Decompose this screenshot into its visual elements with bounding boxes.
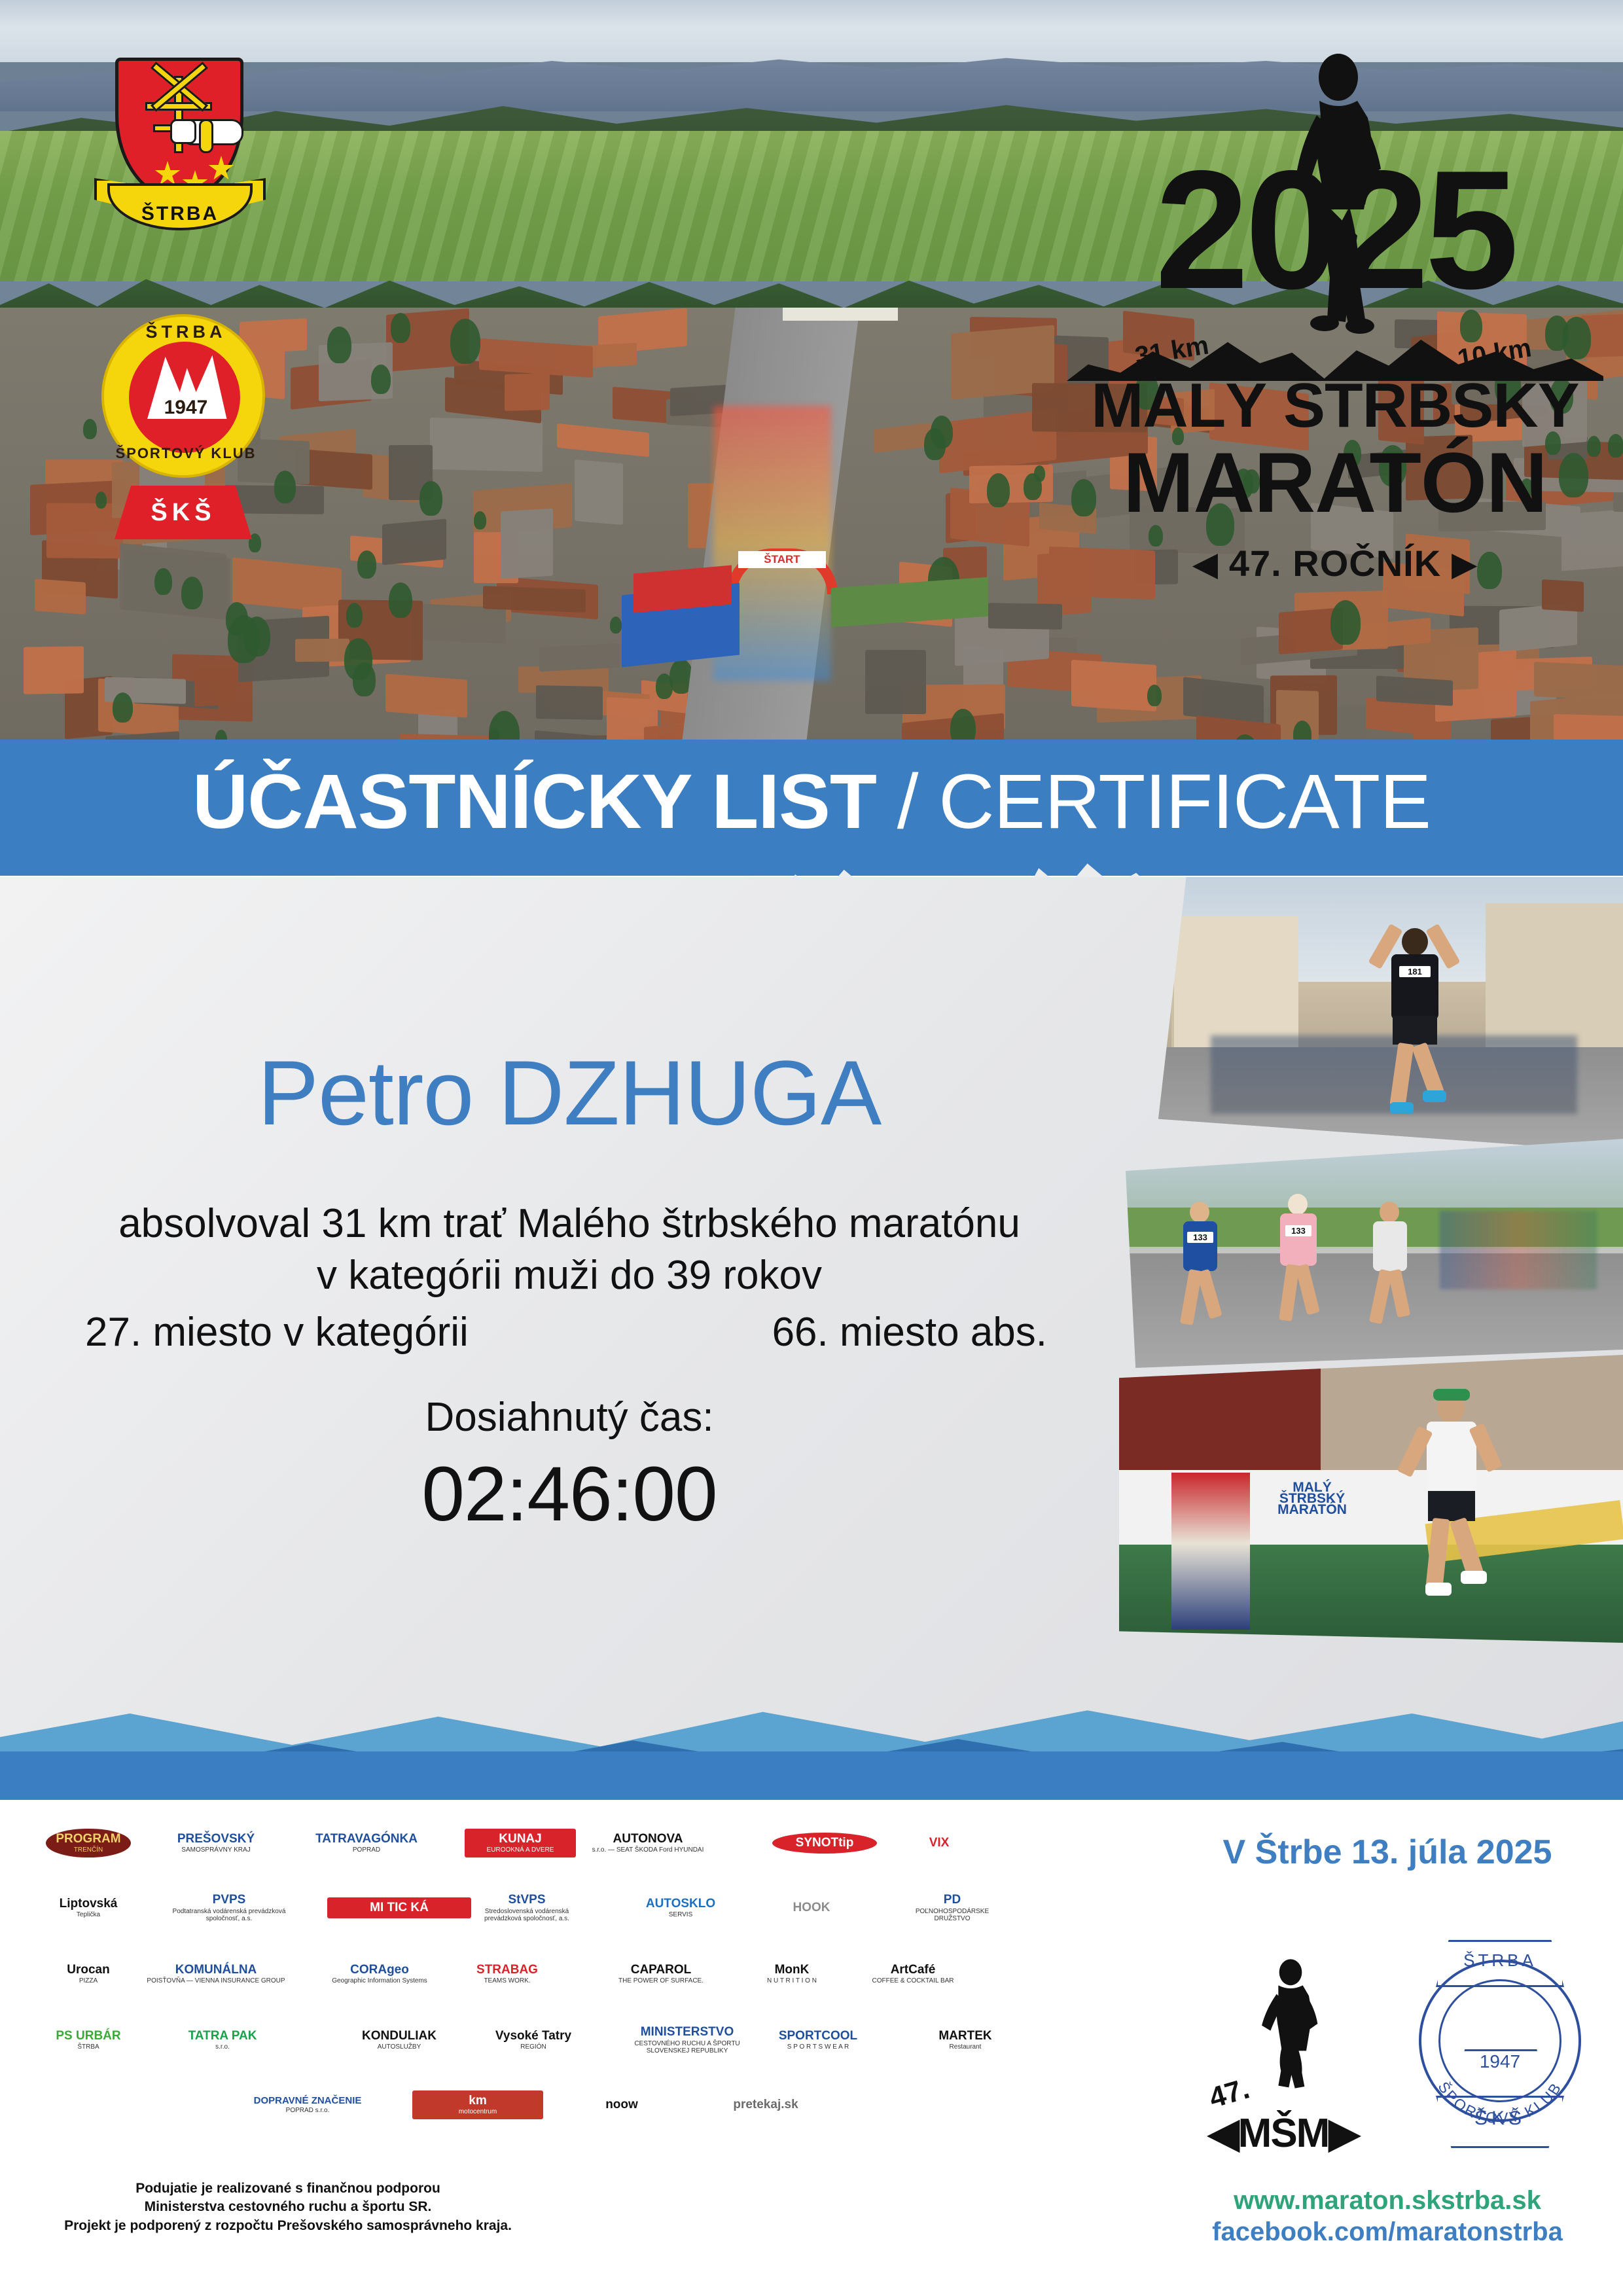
photo1-runner-leg-left [1389,1043,1414,1107]
crest-cuff [199,119,213,153]
sponsor-subtitle: COFFEE & COCKTAIL BAR [872,1977,954,1984]
sponsor-name: noow [605,2098,638,2111]
photo2-runner3-leg-right [1388,1269,1411,1318]
sponsor-logo: CAPAROLTHE POWER OF SURFACE. [596,1943,726,2005]
photo3-banner-text: MALÝŠTRBSKÝMARATÓN [1237,1478,1387,1516]
sponsor-name: PREŠOVSKÝ [177,1833,255,1846]
sponsor-name: KUNAJ [499,1833,541,1846]
roof-tile [24,646,84,694]
photo3-red-building [1119,1355,1321,1487]
photo1-runner-shorts [1393,1016,1437,1045]
sponsor-name: PROGRAM [56,1833,120,1846]
photo2-runner-pack [1440,1211,1597,1289]
sponsor-name: DOPRAVNÉ ZNAČENIE [254,2096,362,2106]
sponsor-logo: ArtCaféCOFFEE & COCKTAIL BAR [864,1943,962,2005]
sponsor-name: VIX [929,1837,950,1850]
sponsor-subtitle: S P O R T S W E A R [787,2043,849,2051]
sponsor-subtitle: POPRAD [353,1846,380,1854]
strba-coat-of-arms: ŠTRBA [98,46,262,236]
sponsor-logo: PDPOĽNOHOSPODÁRSKE DRUŽSTVO [903,1876,1001,1940]
sponsor-subtitle: POĽNOHOSPODÁRSKE DRUŽSTVO [903,1908,1001,1922]
sponsor-name: PVPS [213,1893,246,1907]
sponsor-logo: MI TIC KÁ [327,1876,471,1940]
sponsor-name: KONDULIAK [362,2030,437,2043]
sponsor-subtitle: AUTOSLUŽBY [378,2043,421,2051]
sponsor-logo: MINISTERSTVOCESTOVNÉHO RUCHU A ŠPORTU SL… [622,2008,753,2072]
photo2-runner-2: 133 [1263,1194,1335,1351]
disclaimer-line-3: Projekt je podporený z rozpočtu Prešovsk… [39,2217,537,2235]
sponsor-name: MonK [775,1964,810,1977]
sponsor-logo: pretekaj.sk [700,2075,831,2135]
photo2-runner2-leg-right [1295,1264,1320,1316]
club-logo-abbrev: ŠKŠ [115,499,252,527]
sponsor-logo: MonKN U T R I T I O N [740,1943,844,2005]
roof-tile [539,643,620,672]
sponsor-logo: AUTONOVAs.r.o. — SEAT ŠKODA Ford HYUNDAI [582,1813,713,1873]
sponsor-name: SPORTCOOL [779,2030,857,2043]
photo2-runner2-torso [1280,1213,1317,1266]
roof-tile [430,418,543,472]
sponsor-subtitle: CESTOVNÉHO RUCHU A ŠPORTU SLOVENSKEJ REP… [622,2040,753,2054]
msm-runner-icon [1233,1937,1351,2094]
roof-tile [385,673,467,717]
tree [353,662,376,696]
photo-runner-group: 133 133 [1126,1139,1623,1368]
banner-title: ÚČASTNÍCKY LIST / CERTIFICATE [0,763,1623,840]
roof-tile [874,423,931,453]
certificate-content: Petro DZHUGA absolvoval 31 km trať Maléh… [0,877,1139,1715]
sponsor-name: km [469,2094,486,2108]
finish-time-value: 02:46:00 [0,1450,1139,1539]
banner-separator: / [876,759,938,845]
tree [924,428,946,460]
sponsor-subtitle: POPRAD s.r.o. [286,2107,330,2114]
club-logo-bottom-text: ŠPORTOVÝ KLUB [104,445,268,462]
sponsor-name: MI TIC KÁ [370,1901,429,1914]
sponsor-name: HOOK [793,1901,830,1914]
race-title-line2: MARATÓN [1067,440,1603,525]
sponsor-logo: PVPSPodtatranská vodárenská prevádzková … [157,1876,301,1940]
sponsor-name: ArtCafé [891,1964,936,1977]
roof-tile [505,373,550,411]
sponsor-subtitle: ŠTRBA [77,2043,99,2051]
crest-name-label: ŠTRBA [96,203,264,225]
tree [243,617,270,656]
tree [419,481,442,516]
msm-abbrev: ◀MŠM▶ [1208,2109,1359,2157]
roof-tile [988,603,1062,630]
sponsor-subtitle: s.r.o. [215,2043,230,2051]
sponsor-name: Liptovská [60,1897,118,1910]
race-title-mark: 2025 31 km 10 km MALÝ ŠTRBSKÝ [1067,39,1603,615]
roof-tile [35,579,86,615]
sponsor-subtitle: TRENČÍN [74,1846,103,1854]
sponsor-logo: KUNAJEUROOKNÁ A DVERE [465,1813,576,1873]
banner-title-sk: ÚČASTNÍCKY LIST [192,759,876,845]
banner-title-en: CERTIFICATE [938,759,1431,845]
tree [327,327,351,363]
photo1-runner-shoe-right [1423,1090,1446,1102]
tree [391,313,410,343]
photo2-bib-1: 133 [1187,1232,1213,1243]
contact-urls: www.maraton.skstrba.sk facebook.com/mara… [1165,2185,1610,2248]
tree [371,365,391,394]
sponsor-logo: Vysoké TatryREGIÓN [478,2008,589,2072]
sponsor-subtitle: REGIÓN [520,2043,546,2051]
sponsor-name: AUTOSKLO [646,1897,715,1910]
sponsor-subtitle: THE POWER OF SURFACE. [618,1977,704,1984]
sponsor-name: pretekaj.sk [733,2098,798,2111]
sponsor-subtitle: Restaurant [950,2043,982,2051]
sponsor-subtitle: s.r.o. — SEAT ŠKODA Ford HYUNDAI [592,1846,704,1854]
roof-tile [382,519,446,565]
sponsor-logo: STRABAGTEAMS WORK. [452,1943,563,2005]
photo3-runner-leg-right [1450,1517,1484,1577]
athlete-first-name: Petro [258,1041,474,1144]
sponsor-logo: CORAgeoGeographic Information Systems [308,1943,452,2005]
sponsor-name: CAPAROL [631,1964,692,1977]
sponsor-logo: VIX [890,1813,988,1873]
sponsor-logo: HOOK [759,1876,864,1940]
sponsor-name: PS URBÁR [56,2030,120,2043]
sponsor-name: TATRA PAK [188,2030,257,2043]
photo2-runner3-torso [1373,1221,1407,1271]
race-title-line1: MALÝ ŠTRBSKÝ [1067,374,1603,437]
sponsor-name: PD [944,1893,961,1907]
roof-tile [865,650,926,714]
photo1-runner-torso [1391,954,1438,1020]
athlete-name: Petro DZHUGA [0,1047,1139,1139]
sponsor-name: KOMUNÁLNA [175,1964,257,1977]
funding-disclaimer: Podujatie je realizované s finančnou pod… [39,2179,537,2235]
roof-tile [1071,660,1156,711]
photo1-runner-leg-right [1412,1042,1444,1096]
race-edition: ◀ 47. ROČNÍK ▶ [1067,542,1603,584]
tree [154,568,172,595]
photo1-runner: 181 [1368,928,1459,1144]
website-url[interactable]: www.maraton.skstrba.sk [1165,2185,1610,2216]
sponsor-logo: kmmotocentrum [412,2075,543,2135]
certificate-banner: ÚČASTNÍCKY LIST / CERTIFICATE [0,740,1623,876]
sponsor-subtitle: Geographic Information Systems [332,1977,427,1984]
photo2-runner2-head [1288,1194,1308,1215]
photo1-house-right [1486,903,1623,1047]
disclaimer-line-2: Ministerstva cestovného ruchu a športu S… [39,2198,537,2216]
sponsor-logo: PS URBÁRŠTRBA [46,2008,131,2072]
sponsor-subtitle: motocentrum [459,2108,497,2115]
sponsor-logo: UrocanPIZZA [46,1943,131,2005]
sponsor-subtitle: TEAMS WORK. [484,1977,530,1984]
sponsor-logo: KOMUNÁLNAPOISŤOVŇA — VIENNA INSURANCE GR… [144,1943,288,2005]
disclaimer-line-1: Podujatie je realizované s finančnou pod… [39,2179,537,2198]
photo3-runner-headband [1433,1389,1470,1401]
sponsor-name: STRABAG [476,1964,538,1977]
club-logo-abbrev-band: ŠKŠ [115,486,252,539]
sponsor-name: AUTONOVA [613,1833,683,1846]
photo1-runner-shoe-left [1390,1102,1414,1114]
sponsor-logo: DOPRAVNÉ ZNAČENIEPOPRAD s.r.o. [242,2075,373,2135]
tree [389,583,412,618]
tree [474,511,486,529]
roof-tile [1376,675,1453,706]
sponsor-subtitle: EUROOKNÁ A DVERE [487,1846,554,1854]
issue-date: V Štrbe 13. júla 2025 [1171,1833,1603,1872]
hero-photo: ŠTART [0,0,1623,772]
facebook-url[interactable]: facebook.com/maratonstrba [1165,2216,1610,2248]
photo3-runner [1400,1394,1505,1636]
sponsor-logo: SYNOTtip [772,1813,877,1873]
tree [656,673,673,699]
sponsor-logo: PROGRAMTRENČÍN [46,1813,131,1873]
roof-tile [575,459,623,525]
club-logo-year: 1947 [104,397,268,419]
category-placement: 27. miesto v kategórii [85,1309,469,1355]
photo2-runner1-leg-right [1196,1269,1222,1319]
roof-tile [295,639,349,662]
sponsor-subtitle: SAMOSPRÁVNY KRAJ [181,1846,250,1854]
tree [83,419,97,439]
sponsor-name: MINISTERSTVO [641,2026,734,2039]
sponsor-logo: TATRA PAKs.r.o. [151,2008,294,2072]
sponsor-name: TATRAVAGÓNKA [315,1833,418,1846]
sponsor-name: StVPS [508,1893,545,1907]
certificate-page: ŠTART [0,0,1623,2296]
photo-male-runner-finish: MALÝŠTRBSKÝMARATÓN [1119,1355,1623,1643]
photo1-bib-number: 181 [1399,966,1431,977]
tree [1147,685,1162,706]
church-nave [783,308,898,321]
achievement-description: absolvoval 31 km trať Malého štrbského m… [0,1198,1139,1302]
tree [987,473,1010,507]
photo2-runner-3 [1355,1202,1427,1352]
sponsor-logo: StVPSStredoslovenská vodárenská prevádzk… [471,1876,582,1940]
sponsor-name: CORAgeo [350,1964,409,1977]
photo2-runner1-torso [1183,1221,1217,1271]
sponsor-logo: noow [556,2075,687,2135]
sponsor-subtitle: N U T R I T I O N [767,1977,817,1984]
sponsor-logo: AUTOSKLOSERVIS [615,1876,746,1940]
sponsor-subtitle: Stredoslovenská vodárenská prevádzková s… [471,1908,582,1922]
roof-tile [194,667,236,707]
footer-logos: 47. ◀MŠM▶ ŠTRBA 1947 ŠPORTOVÝ KLUB ŠKŠ [1198,1918,1603,2173]
roof-tile [557,423,649,457]
tree [346,603,363,628]
sponsor-name: Vysoké Tatry [495,2030,571,2043]
sponsor-subtitle: SERVIS [669,1911,693,1918]
tree [450,319,480,364]
photo1-house-left [1171,916,1298,1047]
roof-tile [120,543,226,620]
tree [1024,473,1042,500]
sponsor-logos: PROGRAMTRENČÍNPREŠOVSKÝSAMOSPRÁVNY KRAJT… [46,1813,1158,2219]
sponsor-logo: LiptovskáTeplička [46,1876,131,1940]
roof-tile [501,509,553,579]
sponsor-subtitle: POISŤOVŇA — VIENNA INSURANCE GROUP [147,1977,285,1984]
crest-hand [170,119,196,144]
stamp-bottom-text: ŠKŠ [1436,2108,1564,2130]
crest-ribbon: ŠTRBA [96,174,264,237]
arrow-left-icon: ◀ [1193,546,1218,583]
athlete-last-name: DZHUGA [498,1041,881,1144]
club-stamp: ŠTRBA 1947 ŠPORTOVÝ KLUB ŠKŠ [1400,1932,1597,2155]
photo3-runner-shorts [1428,1491,1475,1521]
tree [96,492,107,509]
arrow-right-icon: ▶ [1452,546,1477,583]
description-line-1: absolvoval 31 km trať Malého štrbského m… [0,1198,1139,1249]
start-arch-label: ŠTART [738,551,826,568]
race-edition-label: 47. ROČNÍK [1229,543,1441,584]
sponsor-logo: TATRAVAGÓNKAPOPRAD [294,1813,438,1873]
photo3-runner-shoe-right [1461,1571,1487,1584]
absolute-placement: 66. miesto abs. [772,1309,1047,1355]
sponsor-logo: MARTEKRestaurant [916,2008,1014,2072]
placement-row: 27. miesto v kategórii 66. miesto abs. [0,1309,1139,1355]
photo3-runner-singlet [1427,1422,1476,1494]
photo2-runner-1: 133 [1165,1202,1237,1352]
finish-time-label: Dosiahnutý čas: [0,1394,1139,1441]
sports-club-logo: ŠTRBA 1947 ŠPORTOVÝ KLUB [101,314,265,478]
photo1-runner-head [1402,928,1428,956]
sponsor-logo: KONDULIAKAUTOSLUŽBY [327,2008,471,2072]
sponsor-logo: SPORTCOOLS P O R T S W E A R [766,2008,870,2072]
roof-tile [483,586,586,613]
sponsor-subtitle: PIZZA [79,1977,98,1984]
tree [1608,434,1623,457]
photo-female-runner: 181 [1158,877,1623,1152]
sponsor-name: SYNOTtip [796,1837,854,1850]
runner-silhouette-icon [1276,52,1400,334]
sponsor-subtitle: Teplička [77,1911,100,1918]
club-logo-top-text: ŠTRBA [104,322,268,342]
tree [357,550,376,579]
photo3-runner-shoe-left [1425,1583,1452,1596]
tree [113,692,133,723]
photo2-bib-2: 133 [1285,1225,1311,1236]
tree [610,617,622,634]
description-line-2: v kategórii muži do 39 rokov [0,1249,1139,1301]
roof-tile [536,685,603,720]
photo3-runner-leg-left [1426,1518,1450,1587]
tree [181,577,203,609]
photo2-runner1-head [1190,1202,1209,1223]
sponsor-name: MARTEK [938,2030,991,2043]
sponsor-subtitle: Podtatranská vodárenská prevádzková spol… [157,1908,301,1922]
tree [274,471,296,503]
photo2-runner3-head [1380,1202,1399,1223]
sponsor-name: Urocan [67,1964,109,1977]
msm-event-logo: 47. ◀MŠM▶ [1204,1937,1381,2153]
race-photo-collage: 181 133 [1113,877,1623,1695]
photo3-folk-costume-spectator [1171,1473,1250,1630]
sponsor-logo: PREŠOVSKÝSAMOSPRÁVNY KRAJ [144,1813,288,1873]
